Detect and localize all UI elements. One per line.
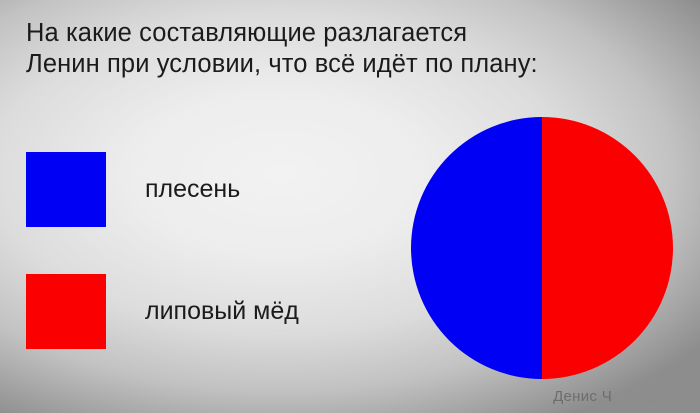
legend-label-honey: липовый мёд	[145, 297, 299, 326]
page-title: На какие составляющие разлагается Ленин …	[26, 18, 666, 80]
legend-item-1: липовый мёд	[26, 250, 386, 372]
legend-swatch-honey	[26, 274, 106, 349]
meme-image: На какие составляющие разлагается Ленин …	[0, 0, 700, 413]
legend-label-mold: плесень	[145, 175, 240, 204]
legend-swatch-mold	[26, 152, 106, 227]
site-watermark: pikabu.ru	[643, 394, 694, 408]
chart-legend: плесень липовый мёд	[26, 128, 386, 372]
legend-item-0: плесень	[26, 128, 386, 250]
pie-chart	[411, 117, 673, 379]
author-signature: Денис Ч	[553, 388, 612, 405]
pie-slices	[411, 117, 673, 379]
